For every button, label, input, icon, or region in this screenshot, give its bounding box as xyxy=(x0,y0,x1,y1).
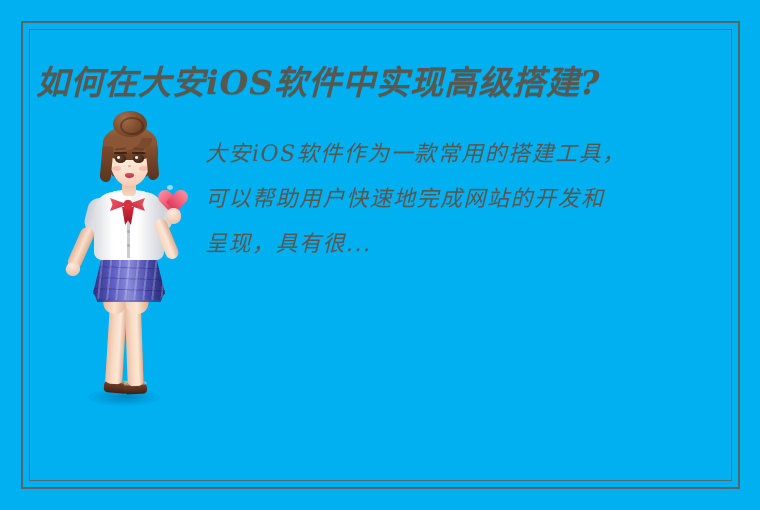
excerpt-line: 可以帮助用户快速地完成网站的开发和 xyxy=(205,177,725,222)
excerpt-line: 呈现，具有很... xyxy=(205,222,725,267)
nose xyxy=(128,165,131,167)
shirt-button xyxy=(127,230,130,233)
hair-bun-swirl xyxy=(120,117,144,135)
character-illustration xyxy=(60,112,210,412)
article-excerpt: 大安iOS软件作为一款常用的搭建工具， 可以帮助用户快速地完成网站的开发和 呈现… xyxy=(205,132,725,267)
shirt-button xyxy=(127,244,130,247)
ribbon-knot xyxy=(124,200,132,209)
article-card: 如何在大安iOS软件中实现高级搭建? 大安iOS软件作为一款常用的搭建工具， 可… xyxy=(0,0,760,510)
page-title: 如何在大安iOS软件中实现高级搭建? xyxy=(36,58,736,108)
eye-highlight-left xyxy=(117,156,120,159)
hand-right xyxy=(166,208,181,224)
blush-left xyxy=(112,166,121,171)
excerpt-line: 大安iOS软件作为一款常用的搭建工具， xyxy=(205,132,725,177)
eye-highlight-right xyxy=(135,156,138,159)
heart-lollipop-icon xyxy=(161,180,187,204)
hair-side-lock-left xyxy=(99,146,113,183)
blush-right xyxy=(139,166,148,171)
mouth xyxy=(125,173,134,178)
heart-highlight xyxy=(167,185,173,190)
